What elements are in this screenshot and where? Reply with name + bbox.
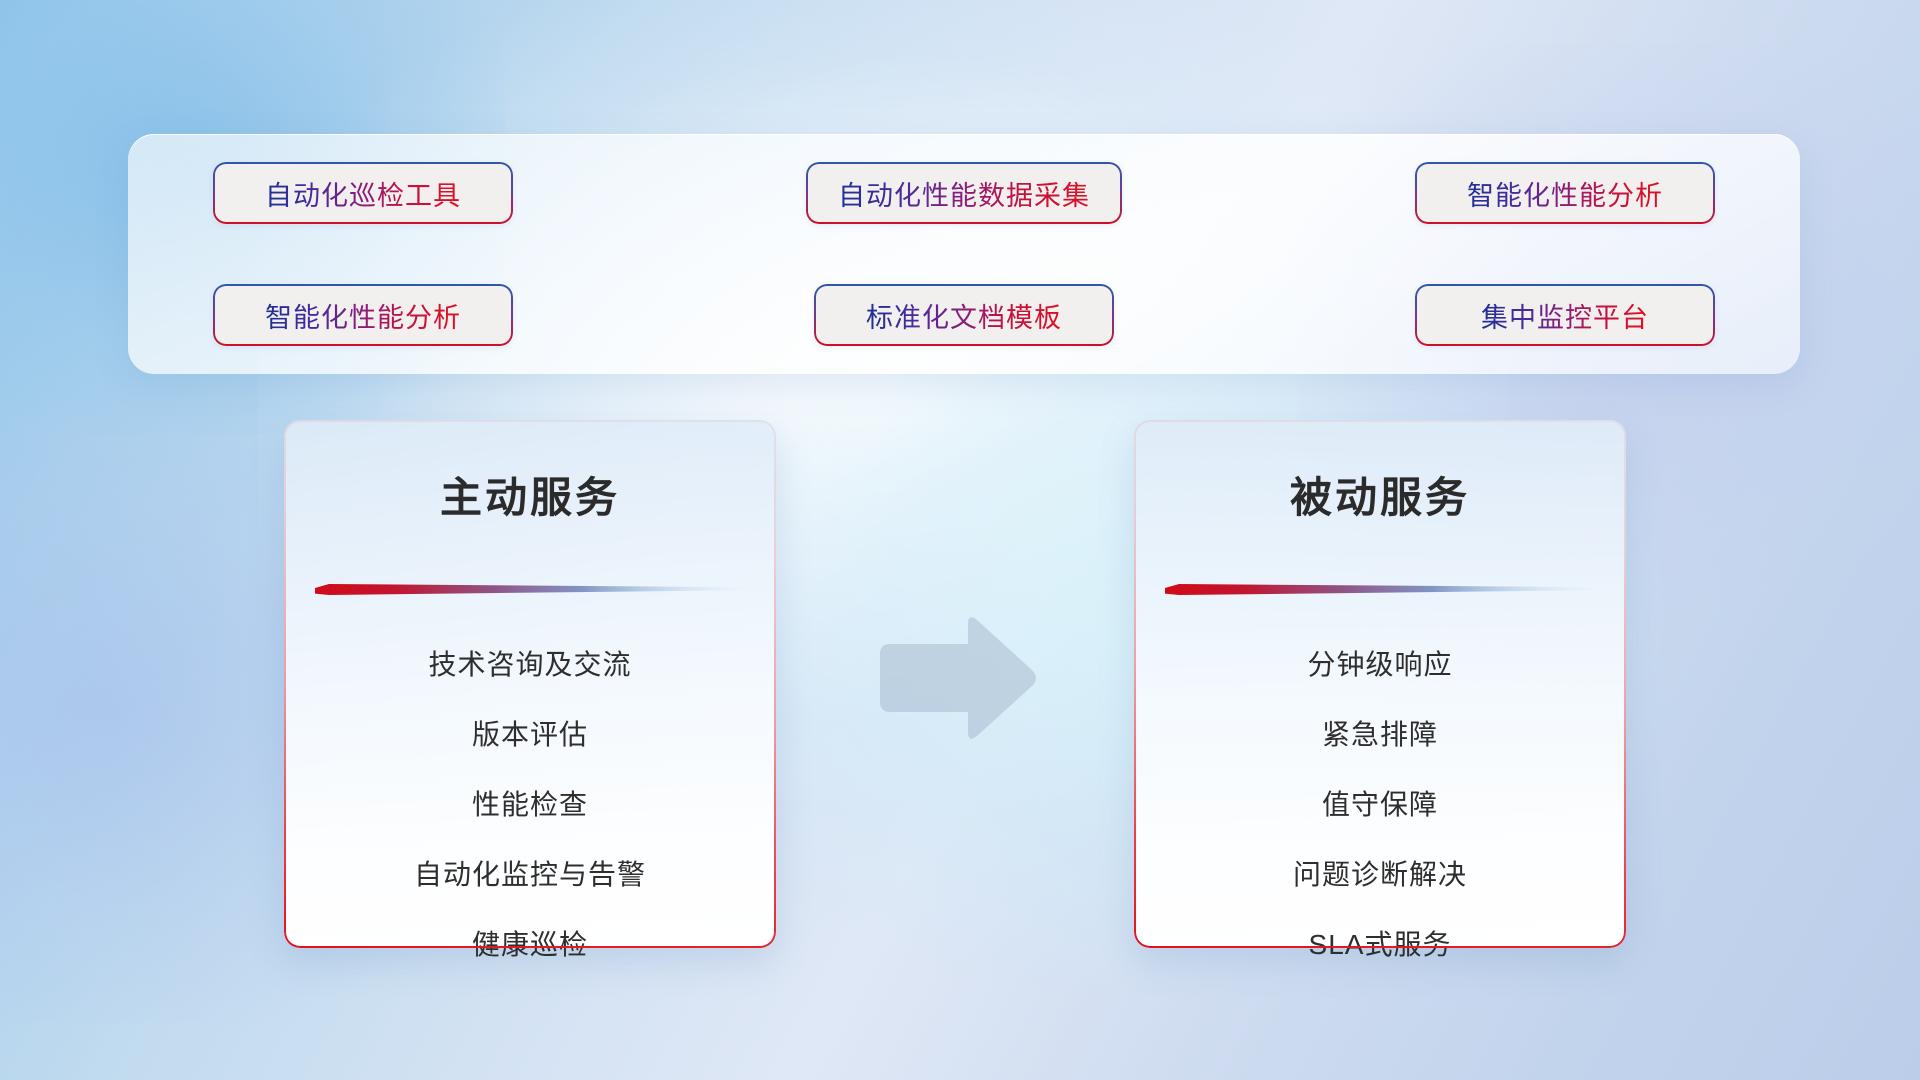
capability-slot-1-1: 自动化巡检工具 [184,162,542,224]
capability-pill-label: 集中监控平台 [1481,296,1649,335]
capability-pill-label: 标准化文档模板 [866,296,1062,335]
capability-pill-intelligent-performance-analysis-top[interactable]: 智能化性能分析 [1415,162,1715,224]
list-item: 紧急排障 [1322,700,1438,770]
capability-slot-1-2: 自动化性能数据采集 [785,162,1143,224]
capability-panel: 自动化巡检工具 自动化性能数据采集 智能化性能分析 智能化性能分析 标准化文档模… [128,134,1800,374]
list-item: 自动化监控与告警 [414,840,646,910]
capability-pill-centralized-monitoring-platform[interactable]: 集中监控平台 [1415,284,1715,346]
card-divider-proactive [315,584,745,598]
list-item: 问题诊断解决 [1293,840,1467,910]
service-card-reactive: 被动服务 分钟级响应 紧急排障 值守保障 问题诊断解决 SLA式服务 [1134,420,1626,948]
capability-slot-1-3: 智能化性能分析 [1386,162,1744,224]
capability-pill-label: 智能化性能分析 [265,296,461,335]
capability-pill-label: 自动化性能数据采集 [838,174,1090,213]
capability-pill-automation-performance-data-collection[interactable]: 自动化性能数据采集 [806,162,1122,224]
capability-slot-2-2: 标准化文档模板 [785,284,1143,346]
card-list-reactive: 分钟级响应 紧急排障 值守保障 问题诊断解决 SLA式服务 [1158,630,1602,980]
list-item: 性能检查 [472,770,588,840]
card-title-proactive: 主动服务 [440,464,620,525]
list-item: 值守保障 [1322,770,1438,840]
divider-taper-icon [1165,584,1595,598]
list-item: 版本评估 [472,700,588,770]
capability-pill-label: 智能化性能分析 [1467,174,1663,213]
capability-slot-2-1: 智能化性能分析 [184,284,542,346]
capability-row-2: 智能化性能分析 标准化文档模板 集中监控平台 [184,284,1744,346]
list-item: SLA式服务 [1309,910,1452,980]
capability-row-1: 自动化巡检工具 自动化性能数据采集 智能化性能分析 [184,162,1744,224]
capability-pill-label: 自动化巡检工具 [265,174,461,213]
capability-pill-intelligent-performance-analysis[interactable]: 智能化性能分析 [213,284,513,346]
service-card-proactive: 主动服务 技术咨询及交流 版本评估 性能检查 自动化监控与告警 健康巡检 [284,420,776,948]
capability-pill-automation-inspection-tool[interactable]: 自动化巡检工具 [213,162,513,224]
capability-pill-standardized-document-template[interactable]: 标准化文档模板 [814,284,1114,346]
card-list-proactive: 技术咨询及交流 版本评估 性能检查 自动化监控与告警 健康巡检 [308,630,752,980]
capability-slot-2-3: 集中监控平台 [1386,284,1744,346]
card-divider-reactive [1165,584,1595,598]
divider-taper-icon [315,584,745,598]
card-title-reactive: 被动服务 [1290,464,1470,525]
list-item: 分钟级响应 [1307,630,1452,700]
list-item: 技术咨询及交流 [428,630,631,700]
list-item: 健康巡检 [472,910,588,980]
